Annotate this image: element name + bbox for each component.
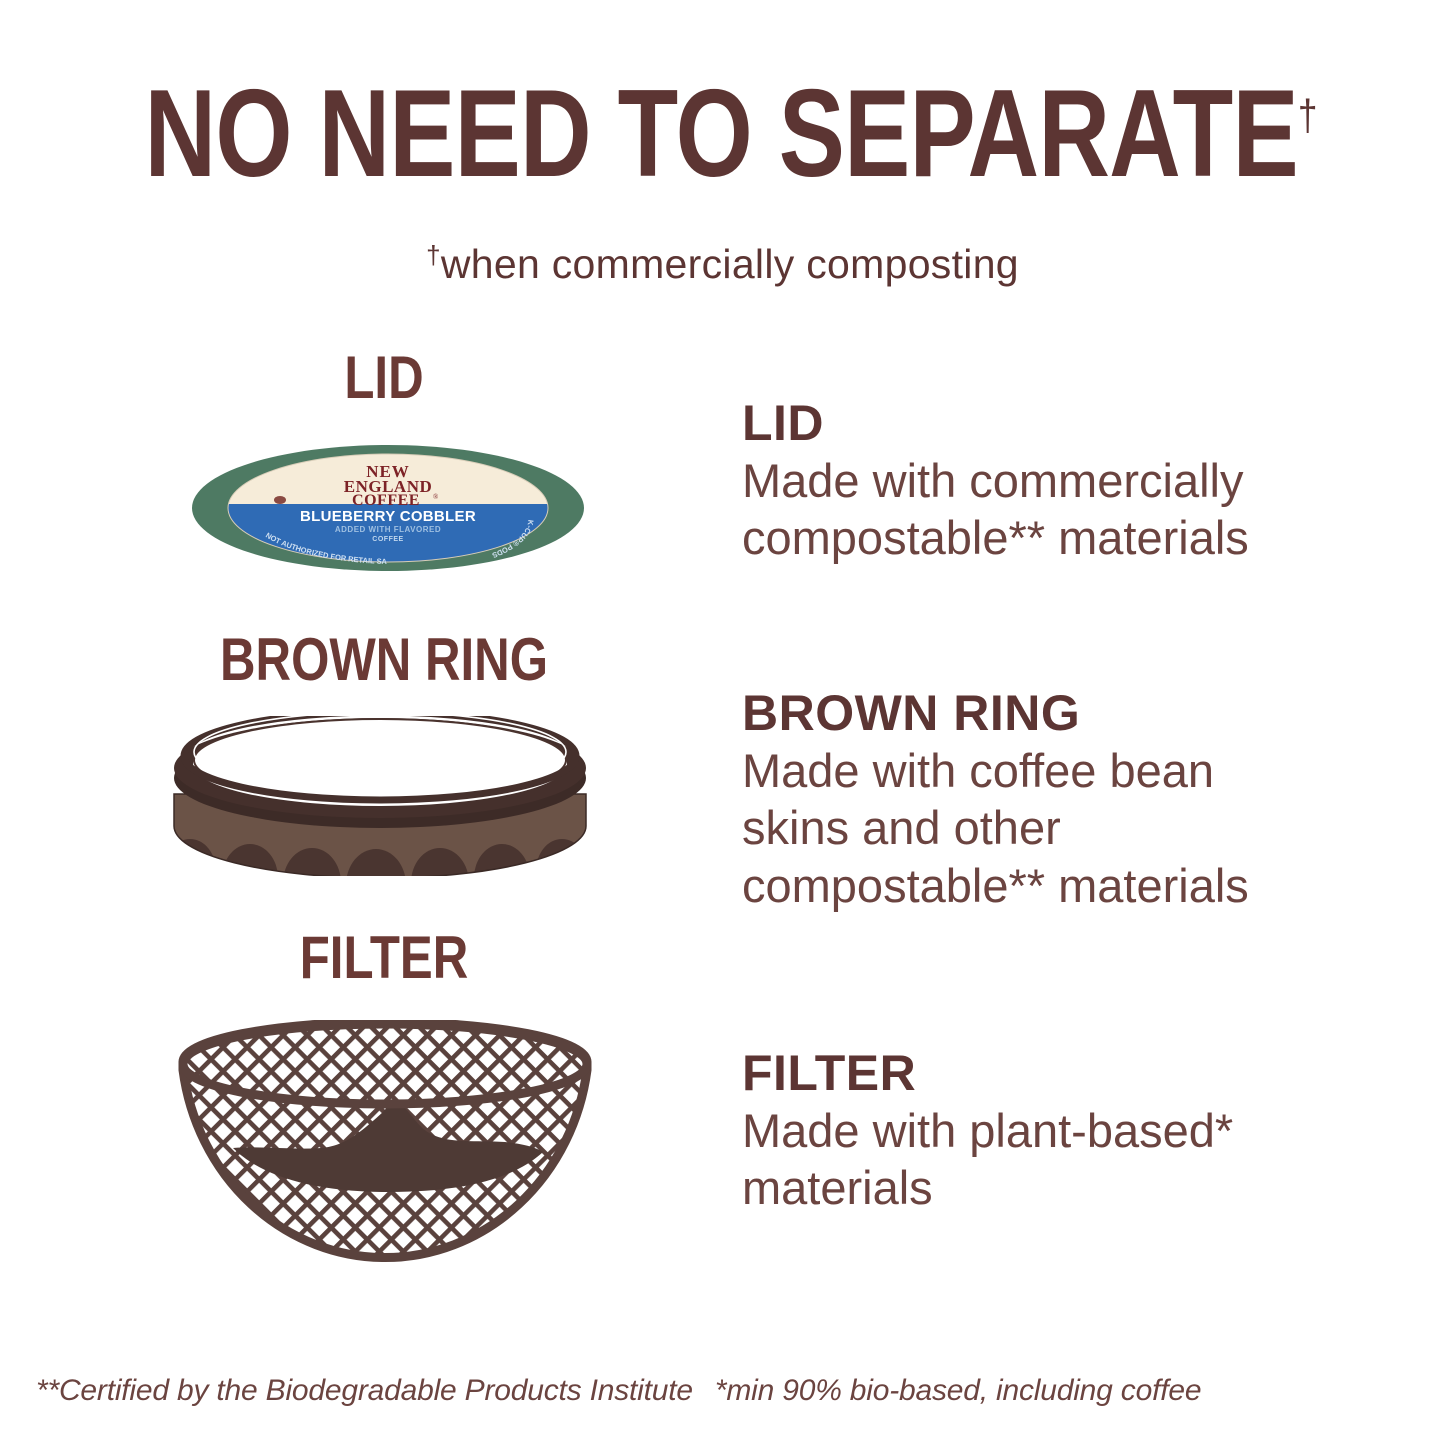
brown-ring-icon [160, 716, 600, 876]
lid-flavor-sub2: COFFEE [372, 536, 403, 543]
detail-line: skins and other [742, 801, 1061, 854]
detail-block-lid: LID Made with commercially compostable**… [742, 396, 1342, 567]
detail-description-filter: Made with plant-based* materials [742, 1102, 1342, 1217]
detail-description-brown-ring: Made with coffee bean skins and other co… [742, 742, 1342, 914]
lid-brand-line3: COFFEE [352, 492, 420, 509]
ring-rim [174, 716, 586, 828]
lid-flavor: BLUEBERRY COBBLER [300, 508, 476, 525]
detail-heading-lid: LID [742, 396, 1342, 450]
footnote-certified: **Certified by the Biodegradable Product… [36, 1374, 693, 1407]
detail-line: Made with coffee bean [742, 744, 1214, 797]
detail-line: compostable** materials [742, 511, 1249, 564]
detail-line: compostable** materials [742, 859, 1249, 912]
detail-line: Made with plant-based* [742, 1104, 1233, 1157]
page-subtitle-text: when commercially composting [441, 241, 1019, 287]
lid-brand-registered: ® [433, 493, 439, 501]
infographic-canvas: NO NEED TO SEPARATE† †when commercially … [0, 0, 1445, 1445]
page-subtitle-dagger: † [426, 240, 441, 270]
page-subtitle: †when commercially composting [0, 240, 1445, 288]
detail-heading-brown-ring: BROWN RING [742, 686, 1342, 740]
illustration-label-lid: LID [220, 348, 548, 408]
detail-heading-filter: FILTER [742, 1046, 1342, 1100]
detail-block-brown-ring: BROWN RING Made with coffee bean skins a… [742, 686, 1342, 914]
page-title-dagger: † [1298, 91, 1317, 140]
filter-illustration [175, 1020, 595, 1290]
lid-illustration: NEW ENGLAND COFFEE ® BLUEBERRY COBBLER A… [190, 444, 586, 572]
detail-line: materials [742, 1161, 933, 1214]
lid-flavor-sub1: ADDED WITH FLAVORED [335, 525, 441, 534]
detail-description-lid: Made with commercially compostable** mat… [742, 452, 1342, 567]
lid-leaf-mark [274, 496, 286, 504]
page-title: NO NEED TO SEPARATE† [145, 72, 1301, 196]
k-cup-lid-icon: NEW ENGLAND COFFEE ® BLUEBERRY COBBLER A… [190, 444, 586, 572]
illustration-label-brown-ring: BROWN RING [187, 630, 581, 690]
footnote-bio-based: *min 90% bio-based, including coffee [715, 1374, 1201, 1407]
illustration-label-filter: FILTER [204, 928, 565, 988]
coffee-filter-icon [175, 1020, 595, 1290]
footnotes: **Certified by the Biodegradable Product… [36, 1374, 1201, 1408]
detail-block-filter: FILTER Made with plant-based* materials [742, 1046, 1342, 1217]
detail-line: Made with commercially [742, 454, 1243, 507]
page-title-text: NO NEED TO SEPARATE [145, 65, 1298, 203]
brown-ring-illustration [160, 716, 600, 876]
